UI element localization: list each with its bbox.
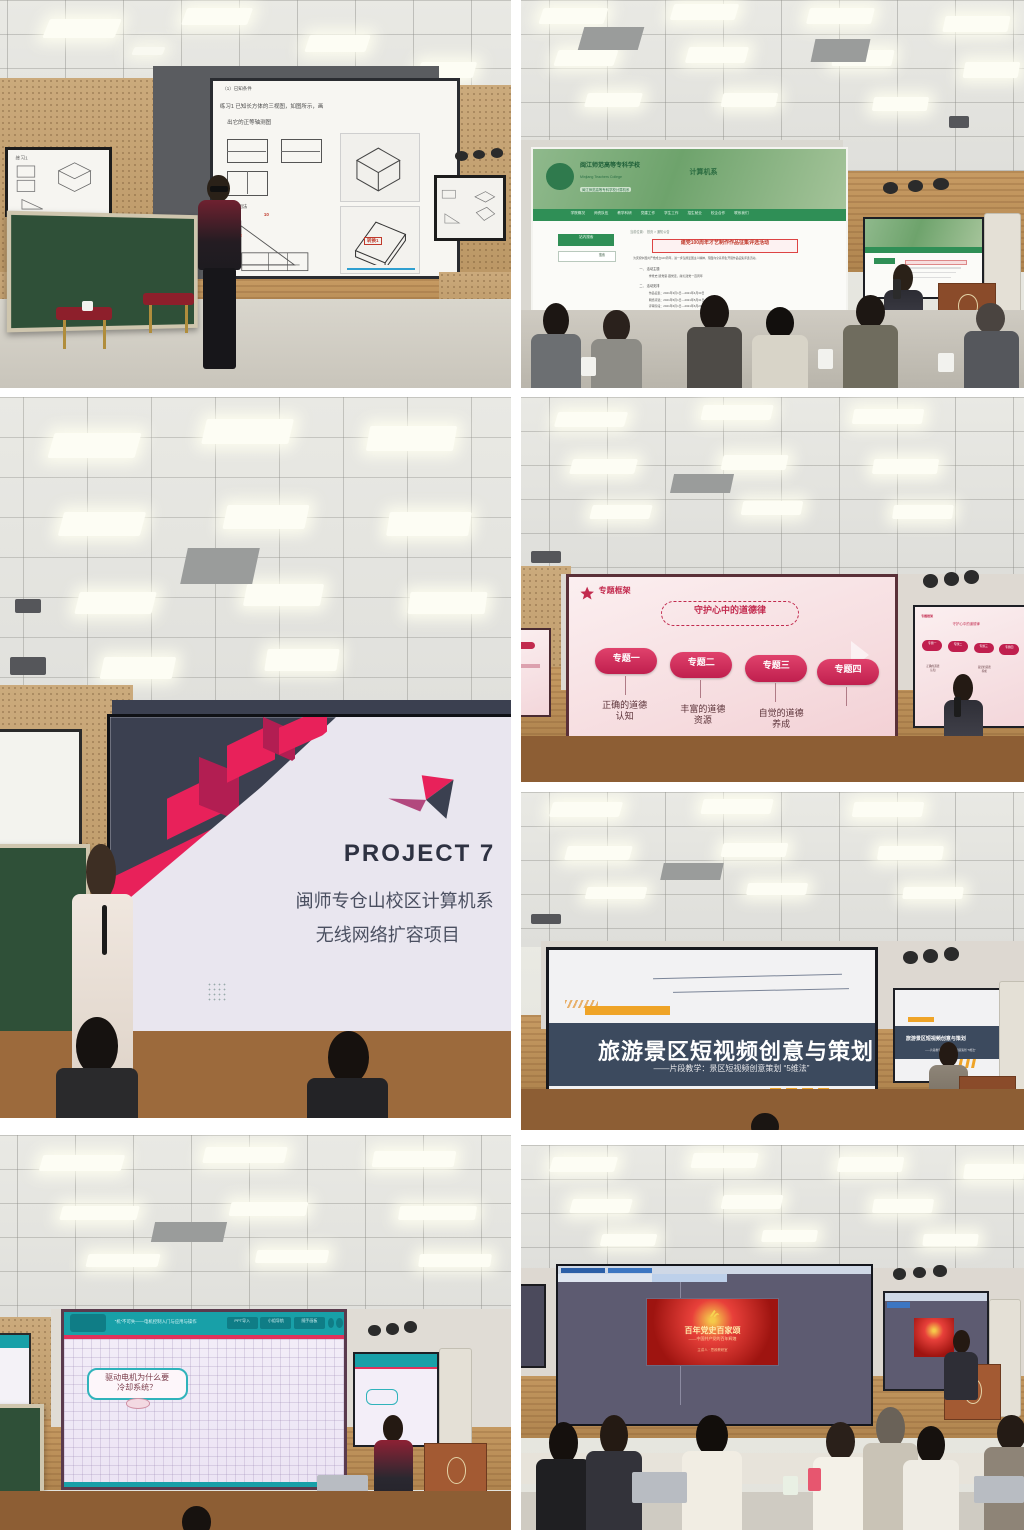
project-title-line2: 无线网络扩容项目 bbox=[316, 921, 460, 947]
mirror-caption: 自觉的道德 养成 bbox=[971, 665, 997, 673]
audience-person bbox=[307, 1031, 389, 1118]
center-title: 守护心中的道德律 bbox=[661, 601, 800, 625]
site-section-1: 一、 活动主题 bbox=[639, 266, 659, 271]
audience-person bbox=[56, 1017, 138, 1118]
site-school-name-en: Minjiang Teachers College bbox=[580, 175, 622, 179]
ceiling-speaker-icon bbox=[933, 1265, 946, 1277]
course-tag: “机”不可失——电机控制入门与应用与操作 bbox=[115, 1319, 197, 1325]
projector-icon bbox=[531, 551, 561, 563]
topic-pill: 专题二 bbox=[670, 652, 732, 678]
ceiling-speaker-icon bbox=[933, 178, 948, 190]
nav-item[interactable]: 教学科研 bbox=[617, 211, 631, 216]
laptop[interactable] bbox=[974, 1476, 1024, 1503]
topic-caption: 丰富的道德 资源 bbox=[664, 704, 742, 727]
nav-item[interactable]: 联系我们 bbox=[734, 211, 748, 216]
mirror-pill: 专题二 bbox=[948, 641, 968, 652]
panel-motor-principle-class: “机”不可失——电机控制入门与应用与操作 PPT导入 小组导航 随手画板 驱动电… bbox=[0, 1135, 511, 1530]
brand-logo-icon bbox=[384, 772, 457, 826]
plan-view-icon bbox=[237, 249, 315, 274]
nav-item[interactable]: 学生工作 bbox=[664, 211, 678, 216]
mirror-center-title: 守护心中的道德律 bbox=[953, 621, 980, 626]
toolbar-item[interactable]: PPT导入 bbox=[227, 1317, 258, 1329]
site-headline: 建党100周年才艺制作作品征集评选活动 bbox=[652, 239, 798, 253]
mirror-pill: 专题四 bbox=[999, 644, 1019, 655]
ceiling-speaker-icon bbox=[944, 947, 959, 961]
slide-party-history: 百年党史百家颂 ——中国共产党的百年辉煌 主讲人 · 思政教研室 bbox=[558, 1266, 871, 1424]
audience-person bbox=[964, 303, 1019, 388]
project-title-line1: 闽师专仓山校区计算机系 bbox=[296, 887, 494, 913]
audience-person bbox=[536, 1422, 591, 1530]
left-side-display-panel7 bbox=[521, 1284, 546, 1369]
projection-screen-panel6: “机”不可失——电机控制入门与应用与操作 PPT导入 小组导航 随手画板 驱动电… bbox=[61, 1309, 347, 1491]
course-subtitle: ——片段教学：景区短视频创意策划 “5维法” bbox=[653, 1063, 809, 1074]
mirror-caption: 正确的道德 认知 bbox=[920, 664, 946, 672]
audience-person bbox=[531, 303, 581, 388]
left-side-display-panel4 bbox=[521, 628, 551, 717]
projector-icon bbox=[10, 657, 46, 676]
party-slide-title: 百年党史百家颂 bbox=[647, 1325, 778, 1336]
site-banner: 闽江师范高等专科学校 Minjiang Teachers College 闽江师… bbox=[533, 149, 846, 209]
water-cup bbox=[818, 349, 833, 368]
party-slide-byline: 主讲人 · 思政教研室 bbox=[647, 1347, 778, 1352]
topic-pill: 专题一 bbox=[595, 648, 657, 674]
water-cup bbox=[581, 357, 596, 376]
party-emblem-icon bbox=[705, 1307, 723, 1322]
slide-engineering-drawing: （1）已知条件 练习1 已知长方体的三视图，如图所示，画 出它的正等轴测图 bbox=[213, 81, 457, 277]
site-search-button[interactable]: 站内搜索 bbox=[558, 234, 614, 246]
nav-item[interactable]: 招生就业 bbox=[687, 211, 701, 216]
photo-collage: （1）已知条件 练习1 已知长方体的三视图，如图所示，画 出它的正等轴测图 bbox=[0, 0, 1024, 1536]
audience-person bbox=[752, 307, 807, 388]
site-sub-banner: 闽江师范高等专科学校计算机系 bbox=[580, 187, 631, 192]
party-slide-content: 百年党史百家颂 ——中国共产党的百年辉煌 主讲人 · 思政教研室 bbox=[646, 1298, 779, 1366]
water-cup bbox=[783, 1476, 798, 1495]
projection-screen-panel2: 闽江师范高等专科学校 Minjiang Teachers College 闽江师… bbox=[531, 147, 848, 318]
isometric-cube-icon bbox=[349, 141, 408, 192]
nav-item[interactable]: 师资队伍 bbox=[594, 211, 608, 216]
audience-person bbox=[682, 1415, 742, 1531]
panel-campus-website-presentation: 闽江师范高等专科学校 Minjiang Teachers College 闽江师… bbox=[521, 0, 1024, 388]
site-section-2: 二、 活动安排 bbox=[639, 283, 659, 288]
ceiling-speaker-icon bbox=[923, 949, 938, 963]
toolbar-item[interactable]: 随手画板 bbox=[294, 1317, 325, 1329]
mirror-pill: 专题一 bbox=[922, 640, 942, 651]
site-intro: 为庆祝中国共产党成立100周年，进一步弘扬爱国主义精神，现面向全系师生开展作品征… bbox=[633, 256, 808, 260]
slide-campus-website: 闽江师范高等专科学校 Minjiang Teachers College 闽江师… bbox=[533, 149, 846, 316]
nav-item[interactable]: 党建工作 bbox=[641, 211, 655, 216]
projector-icon bbox=[15, 599, 41, 613]
toolbar-item[interactable]: 小组导航 bbox=[260, 1317, 291, 1329]
air-conditioner bbox=[999, 981, 1024, 1091]
panel-moral-education-framework: 专题框架 守护心中的道德律 专题一 专题二 专题三 专题四 正确的道德 认知 丰… bbox=[521, 397, 1024, 782]
course-title: 旅游景区短视频创意与策划 bbox=[598, 1034, 874, 1066]
party-slide-subtitle: ——中国共产党的百年辉煌 bbox=[647, 1336, 778, 1342]
panel-tourism-short-video-course: 旅游景区短视频创意与策划 ——片段教学：景区短视频创意策划 “5维法” 旅游景区… bbox=[521, 792, 1024, 1130]
site-banner-extra: 计算机系 bbox=[689, 167, 717, 177]
water-cup bbox=[808, 1468, 821, 1491]
ceiling-speaker-icon bbox=[923, 574, 938, 587]
site-search-go[interactable]: 搜索 bbox=[599, 252, 605, 257]
nav-item[interactable]: 学院概况 bbox=[571, 211, 585, 216]
teacher-person bbox=[194, 175, 245, 369]
audience-person bbox=[174, 1506, 220, 1530]
site-section-1-text: 学党史·颂党恩·跟党走，献礼建党一百周年 bbox=[649, 274, 703, 278]
mini-drawing-icon bbox=[437, 178, 503, 238]
projection-screen-panel7: 百年党史百家颂 ——中国共产党的百年辉煌 主讲人 · 思政教研室 bbox=[556, 1264, 873, 1426]
svg-text:练习1: 练习1 bbox=[16, 155, 29, 162]
mini-drawing-icon: 练习1 bbox=[8, 150, 109, 214]
section-tag: 专题框架 bbox=[599, 585, 631, 596]
audience-person bbox=[984, 1415, 1024, 1531]
nav-item[interactable]: 校企合作 bbox=[711, 211, 725, 216]
teacher-person bbox=[944, 1330, 979, 1399]
projector-icon bbox=[531, 914, 561, 924]
left-wall-display-panel1: 练习1 bbox=[5, 147, 112, 217]
water-cup bbox=[938, 353, 953, 372]
ceiling-speaker-icon bbox=[455, 151, 468, 161]
ceiling-speaker-icon bbox=[491, 148, 504, 158]
project-label: PROJECT 7 bbox=[344, 840, 495, 868]
projection-screen-panel1: （1）已知条件 练习1 已知长方体的三视图，如图所示，画 出它的正等轴测图 bbox=[210, 78, 460, 280]
audience-person bbox=[591, 310, 641, 388]
topic-caption: 正确的道德 认知 bbox=[586, 700, 664, 723]
star-icon bbox=[579, 585, 595, 602]
topic-pill: 专题四 bbox=[817, 659, 879, 685]
projector-icon bbox=[949, 116, 969, 128]
topic-pill: 专题三 bbox=[745, 655, 807, 681]
panel-engineering-drawing-class: （1）已知条件 练习1 已知长方体的三视图，如图所示，画 出它的正等轴测图 bbox=[0, 0, 511, 388]
audience-person bbox=[687, 295, 742, 388]
site-breadcrumb: 当前位置： 首页 > 通知公告 bbox=[630, 229, 670, 234]
ceiling-speaker-icon bbox=[386, 1323, 399, 1335]
audience-person bbox=[813, 1422, 868, 1530]
topic-caption: 自觉的道德 养成 bbox=[742, 708, 820, 731]
site-school-name-cn: 闽江师范高等专科学校 bbox=[580, 160, 640, 169]
ceiling-speaker-icon bbox=[944, 572, 959, 585]
site-nav[interactable]: 学院概况 师资队伍 教学科研 党建工作 学生工作 招生就业 校企合作 联系我们 bbox=[533, 209, 846, 221]
ceiling-speaker-icon bbox=[964, 570, 979, 583]
seal-icon bbox=[126, 1398, 150, 1409]
mirror-section-tag: 专题框架 bbox=[921, 614, 933, 618]
laptop[interactable] bbox=[632, 1472, 687, 1503]
panel-project-7-wireless-network: PROJECT 7 闽师专仓山校区计算机系 无线网络扩容项目 bbox=[0, 397, 511, 1118]
audience-person bbox=[903, 1426, 958, 1530]
site-search-input[interactable] bbox=[558, 251, 616, 262]
right-wall-display-panel1 bbox=[434, 175, 506, 241]
audience-person bbox=[843, 295, 898, 388]
slide-project-7: PROJECT 7 闽师专仓山校区计算机系 无线网络扩容项目 bbox=[110, 717, 511, 1057]
projection-screen-panel3: PROJECT 7 闽师专仓山校区计算机系 无线网络扩容项目 bbox=[107, 714, 511, 1060]
question-box: 驱动电机为什么要 冷却系统？ bbox=[87, 1368, 188, 1400]
audience-person bbox=[742, 1113, 787, 1130]
nav-next-icon[interactable] bbox=[336, 1318, 343, 1329]
mirror-pill: 专题三 bbox=[974, 643, 994, 654]
panel-party-history-lecture: 百年党史百家颂 ——中国共产党的百年辉煌 主讲人 · 思政教研室 bbox=[521, 1145, 1024, 1530]
slide-motor-course: “机”不可失——电机控制入门与应用与操作 PPT导入 小组导航 随手画板 驱动电… bbox=[64, 1312, 344, 1488]
ceiling-speaker-icon bbox=[893, 1268, 906, 1280]
